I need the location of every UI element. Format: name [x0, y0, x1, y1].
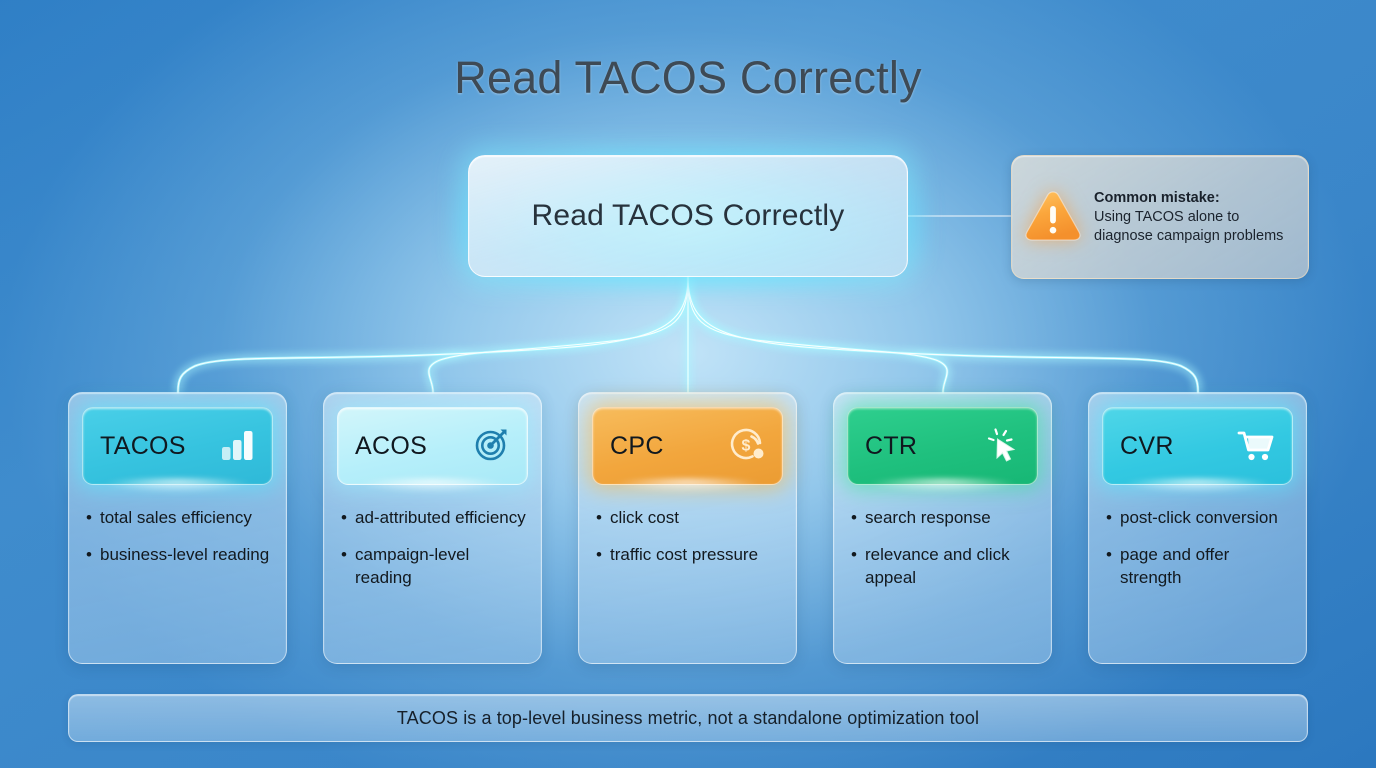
metric-card-cpc[interactable]: CPC $ • click cost • traffic cost pressu…: [578, 392, 797, 664]
common-mistake-callout: Common mistake: Using TACOS alone to dia…: [1011, 155, 1309, 279]
bullet-dot-icon: •: [851, 507, 865, 529]
bar-chart-icon: [217, 424, 257, 469]
bullet-text: ad-attributed efficiency: [355, 507, 528, 529]
bullet-text: search response: [865, 507, 1038, 529]
bullet-dot-icon: •: [86, 507, 100, 529]
hub-node[interactable]: Read TACOS Correctly: [468, 155, 908, 277]
metric-card-ctr[interactable]: CTR • search response •: [833, 392, 1052, 664]
footer-banner: TACOS is a top-level business metric, no…: [68, 694, 1308, 742]
bullet-text: click cost: [610, 507, 783, 529]
bullet-dot-icon: •: [86, 544, 100, 566]
bullet-text: relevance and click appeal: [865, 544, 1038, 589]
bullet-dot-icon: •: [1106, 544, 1120, 589]
warning-text-block: Common mistake: Using TACOS alone to dia…: [1094, 189, 1296, 245]
card-header-cpc: CPC $: [592, 407, 783, 485]
warning-title: Common mistake:: [1094, 189, 1296, 207]
bullet-text: traffic cost pressure: [610, 544, 783, 566]
bullet-text: post-click conversion: [1120, 507, 1293, 529]
bullet-text: total sales efficiency: [100, 507, 273, 529]
metric-card-acos[interactable]: ACOS • ad-attributed efficiency • campai…: [323, 392, 542, 664]
card-header-cvr: CVR: [1102, 407, 1293, 485]
metric-card-tacos[interactable]: TACOS • total sales efficiency • busines…: [68, 392, 287, 664]
bullet-dot-icon: •: [1106, 507, 1120, 529]
bullet-dot-icon: •: [341, 544, 355, 589]
dollar-circle-icon: $: [727, 424, 767, 469]
warning-body: Using TACOS alone to diagnose campaign p…: [1094, 208, 1296, 245]
target-arrow-icon: [472, 424, 512, 469]
list-item: • ad-attributed efficiency: [341, 507, 528, 529]
bullet-list-cvr: • post-click conversion • page and offer…: [1102, 507, 1293, 589]
card-title-cpc: CPC: [610, 432, 664, 461]
bullet-list-acos: • ad-attributed efficiency • campaign-le…: [337, 507, 528, 589]
bullet-dot-icon: •: [596, 544, 610, 566]
list-item: • page and offer strength: [1106, 544, 1293, 589]
card-header-acos: ACOS: [337, 407, 528, 485]
card-title-tacos: TACOS: [100, 432, 186, 461]
list-item: • relevance and click appeal: [851, 544, 1038, 589]
list-item: • click cost: [596, 507, 783, 529]
card-header-ctr: CTR: [847, 407, 1038, 485]
card-header-tacos: TACOS: [82, 407, 273, 485]
page-title: Read TACOS Correctly: [0, 52, 1376, 104]
list-item: • post-click conversion: [1106, 507, 1293, 529]
svg-text:$: $: [742, 437, 751, 454]
bullet-text: page and offer strength: [1120, 544, 1293, 589]
list-item: • traffic cost pressure: [596, 544, 783, 566]
bullet-dot-icon: •: [851, 544, 865, 589]
card-title-ctr: CTR: [865, 432, 917, 461]
list-item: • campaign-level reading: [341, 544, 528, 589]
card-title-acos: ACOS: [355, 432, 427, 461]
card-title-cvr: CVR: [1120, 432, 1174, 461]
bullet-text: campaign-level reading: [355, 544, 528, 589]
footer-text: TACOS is a top-level business metric, no…: [397, 708, 979, 729]
bullet-list-cpc: • click cost • traffic cost pressure: [592, 507, 783, 567]
metric-card-cvr[interactable]: CVR • post-click conversion • page and o…: [1088, 392, 1307, 664]
cursor-click-icon: [982, 424, 1022, 469]
list-item: • business-level reading: [86, 544, 273, 566]
list-item: • total sales efficiency: [86, 507, 273, 529]
bullet-dot-icon: •: [341, 507, 355, 529]
infographic-canvas: Read TACOS Correctly Read TACOS Correctl…: [0, 0, 1376, 768]
bullet-text: business-level reading: [100, 544, 273, 566]
list-item: • search response: [851, 507, 1038, 529]
bullet-dot-icon: •: [596, 507, 610, 529]
bullet-list-ctr: • search response • relevance and click …: [847, 507, 1038, 589]
hub-label: Read TACOS Correctly: [532, 199, 845, 233]
warning-triangle-icon: [1022, 187, 1084, 248]
bullet-list-tacos: • total sales efficiency • business-leve…: [82, 507, 273, 567]
shopping-cart-icon: [1235, 424, 1277, 469]
